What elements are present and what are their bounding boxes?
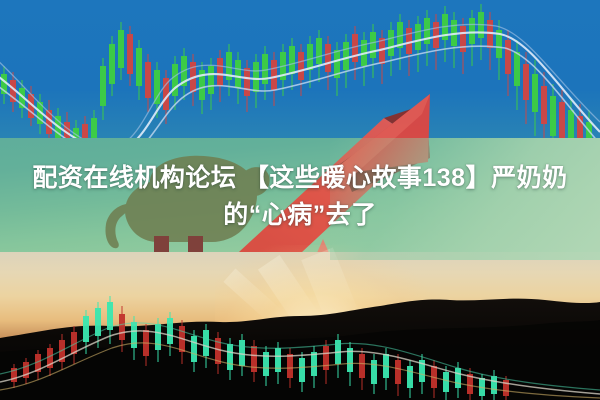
caption-line-2: 的“心病”去了 — [8, 197, 592, 234]
caption-line-1: 配资在线机构论坛 【这些暖心故事138】严奶奶 — [8, 160, 592, 197]
candlestick-chart-bottom — [0, 290, 600, 400]
banner-caption: 配资在线机构论坛 【这些暖心故事138】严奶奶 的“心病”去了 — [0, 160, 600, 234]
banner-image: 配资在线机构论坛 【这些暖心故事138】严奶奶 的“心病”去了 — [0, 0, 600, 400]
